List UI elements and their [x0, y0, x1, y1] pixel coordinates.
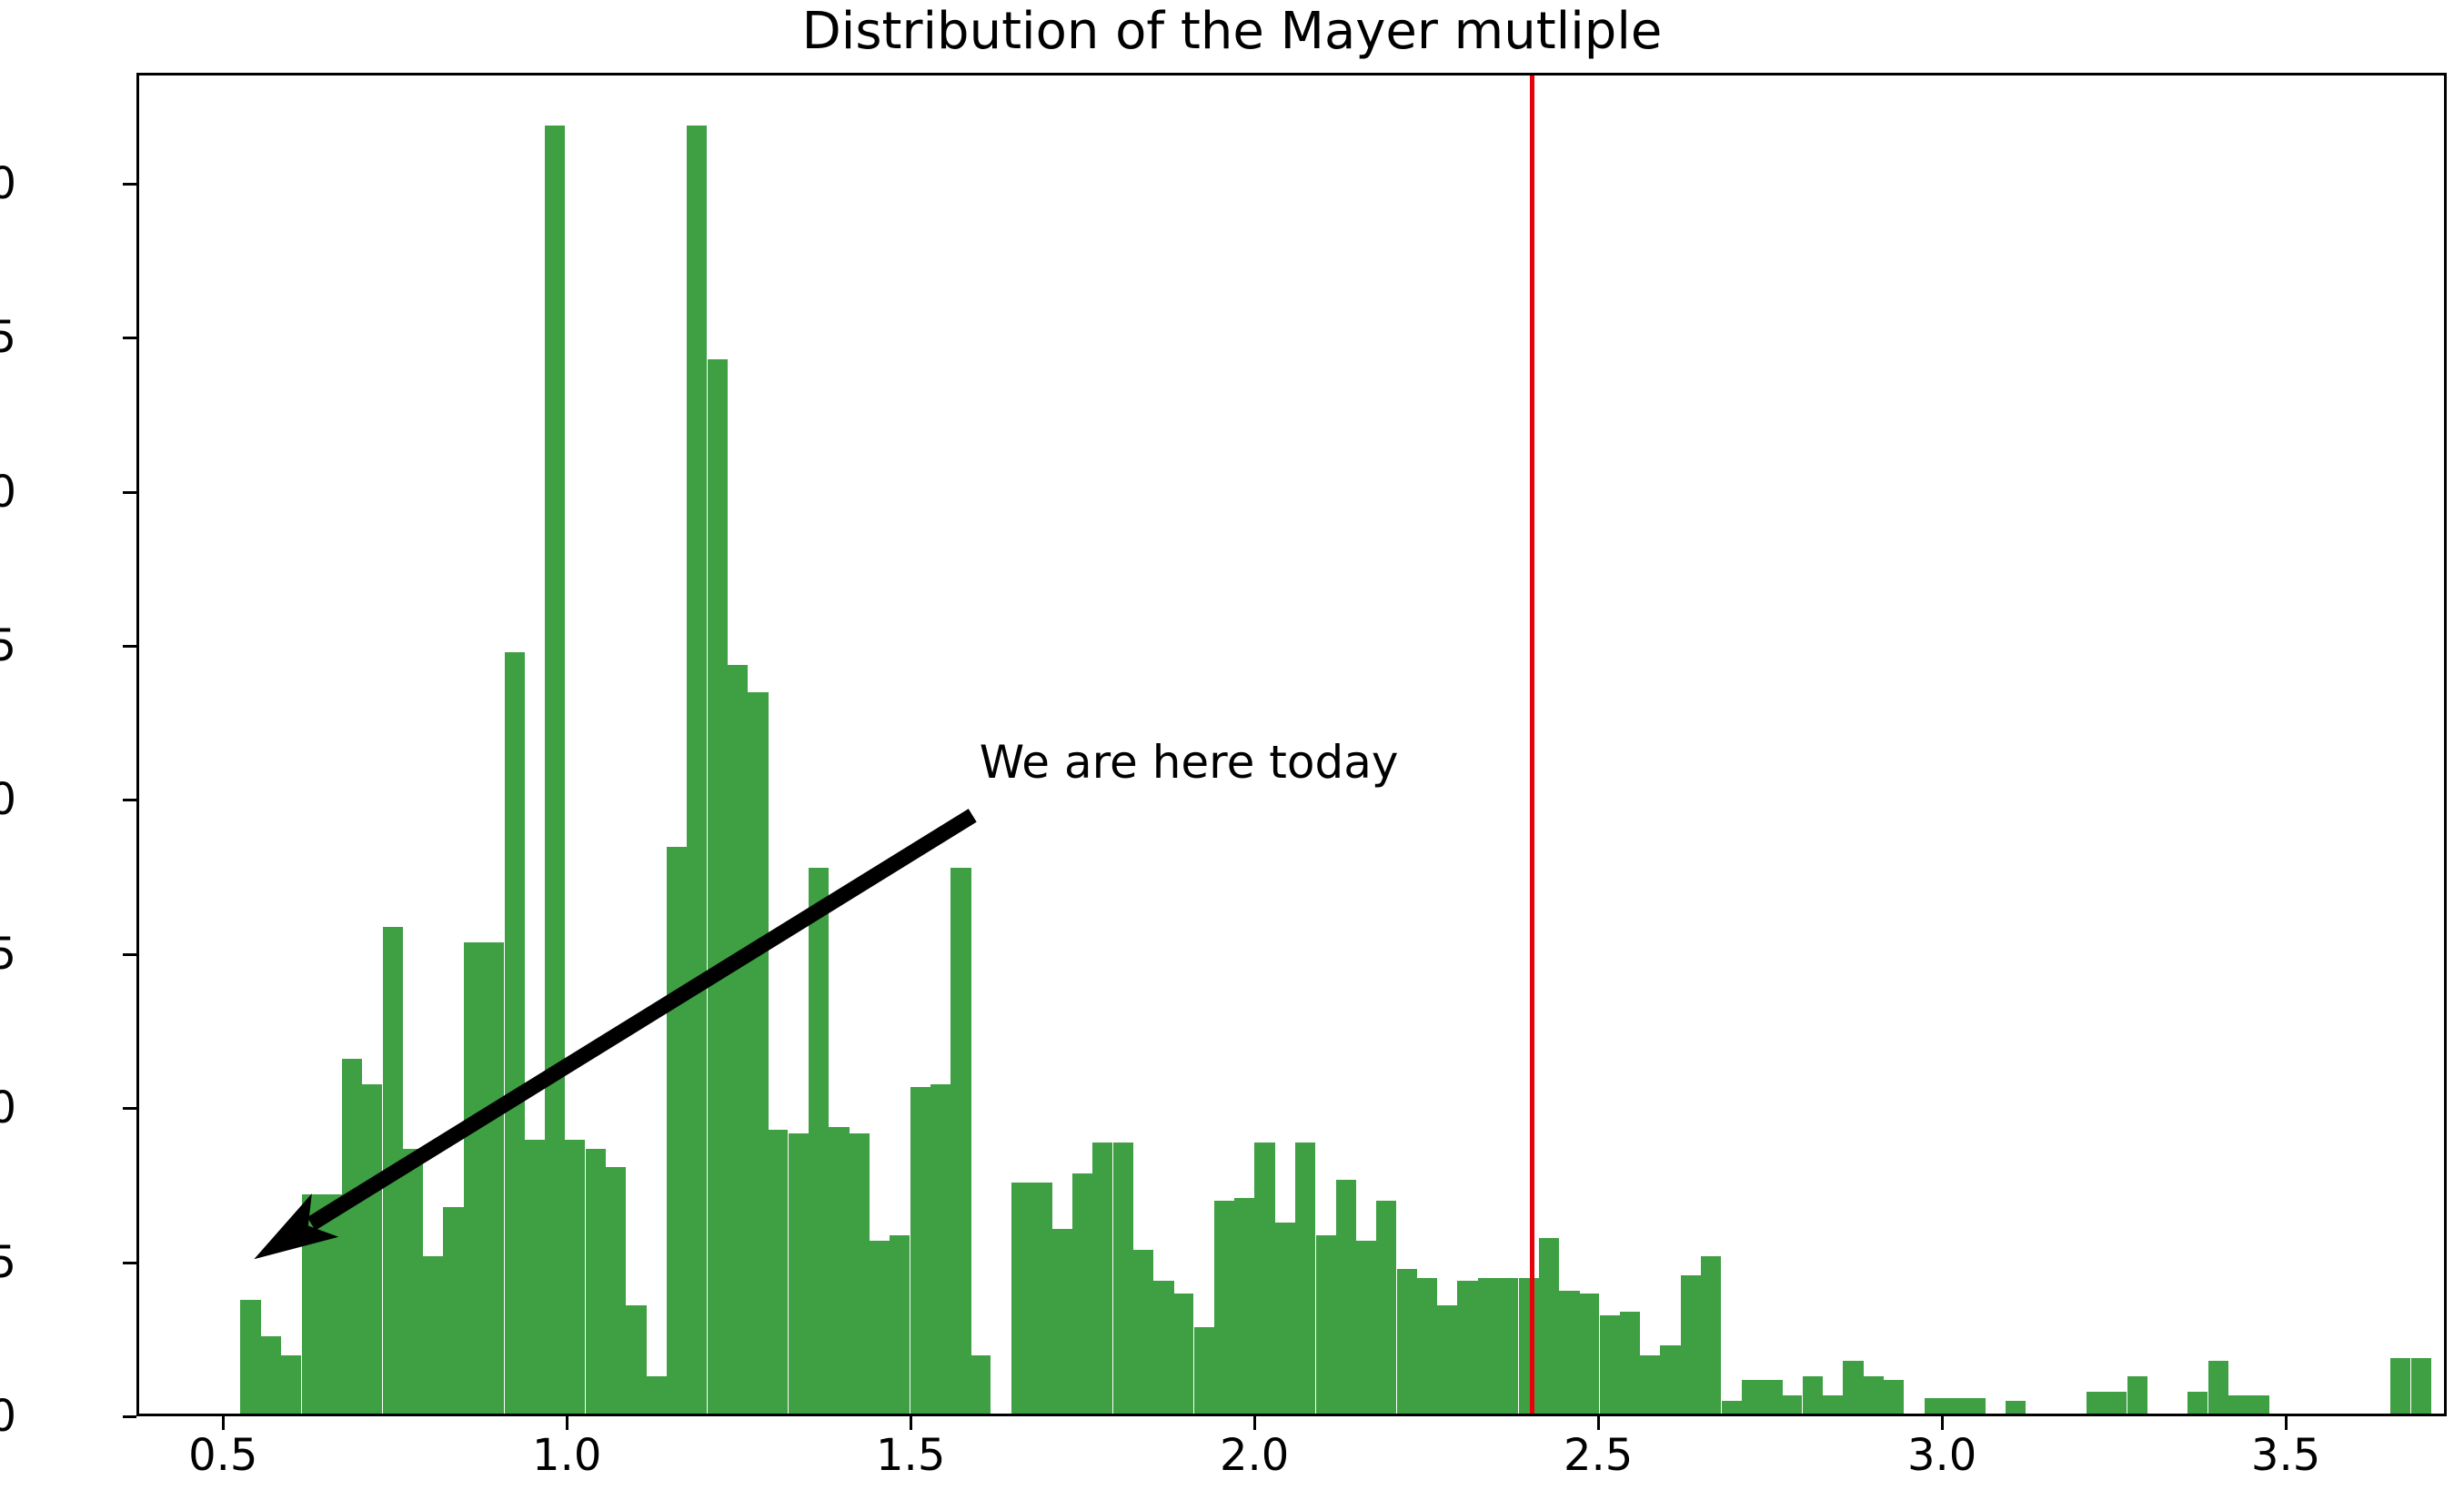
histogram-bar [545, 126, 565, 1414]
x-tick-mark [1941, 1416, 1944, 1430]
histogram-bar [1336, 1180, 1356, 1414]
histogram-bar [1742, 1380, 1762, 1414]
histogram-bar [971, 1355, 991, 1414]
histogram-bar [1681, 1275, 1701, 1414]
histogram-bar [646, 1376, 666, 1414]
histogram-bar [1011, 1183, 1031, 1414]
histogram-bar [1701, 1256, 1721, 1414]
y-tick-mark [123, 183, 136, 186]
x-tick-label: 2.0 [1220, 1430, 1289, 1481]
y-tick-mark [123, 491, 136, 494]
x-tick-mark [910, 1416, 912, 1430]
histogram-bar [809, 868, 829, 1414]
histogram-bar [2087, 1392, 2107, 1414]
x-tick-mark [222, 1416, 225, 1430]
histogram-bar [403, 1149, 423, 1414]
histogram-bar [687, 126, 707, 1414]
histogram-bar [2006, 1401, 2026, 1414]
histogram-bar [525, 1140, 545, 1414]
histogram-bar [1498, 1278, 1518, 1414]
histogram-bar [1539, 1238, 1559, 1414]
threshold-vline [1530, 76, 1534, 1414]
y-tick-label: 1.75 [0, 312, 31, 363]
histogram-bar [2187, 1392, 2208, 1414]
histogram-bar [1133, 1250, 1153, 1414]
histogram-bar [322, 1194, 342, 1414]
histogram-bar [768, 1130, 788, 1414]
histogram-bar [829, 1127, 849, 1414]
histogram-bar [1397, 1269, 1417, 1414]
histogram-bar [261, 1336, 281, 1414]
y-tick-mark [123, 1415, 136, 1418]
histogram-bar [302, 1194, 322, 1414]
histogram-bar [930, 1084, 950, 1414]
y-tick-mark [123, 337, 136, 339]
histogram-bar [789, 1133, 809, 1414]
histogram-bar [1620, 1312, 1640, 1414]
histogram-bar [505, 652, 525, 1414]
histogram-bar [2107, 1392, 2127, 1414]
histogram-bar [484, 942, 504, 1414]
histogram-bar [565, 1140, 585, 1414]
histogram-bar [1031, 1183, 1051, 1414]
histogram-bar [1194, 1327, 1214, 1414]
histogram-bar [1478, 1278, 1498, 1414]
histogram-bar [586, 1149, 606, 1414]
histogram-bar [1173, 1294, 1193, 1414]
histogram-bar [748, 692, 768, 1414]
histogram-bar [667, 847, 687, 1414]
histogram-bar [708, 359, 728, 1414]
histogram-bar [1863, 1376, 1883, 1414]
histogram-bar [1559, 1291, 1579, 1414]
x-tick-label: 0.5 [188, 1430, 257, 1481]
histogram-bar [849, 1133, 869, 1414]
y-tick-label: 1.00 [0, 774, 31, 825]
histogram-bar [1519, 1278, 1539, 1414]
histogram-bar [626, 1305, 646, 1414]
histogram-bar [870, 1241, 890, 1414]
histogram-bar [1823, 1395, 1843, 1414]
histogram-bar [2390, 1358, 2410, 1414]
histogram-bar [1660, 1345, 1680, 1414]
histogram-bar [1376, 1201, 1396, 1414]
histogram-bar [1884, 1380, 1904, 1414]
page-title: Distribution of the Mayer mutliple [0, 2, 2464, 61]
chart-figure: Distribution of the Mayer mutliple 0.000… [0, 0, 2464, 1500]
histogram-bar [281, 1355, 301, 1414]
y-tick-mark [123, 1107, 136, 1110]
histogram-bar [1843, 1361, 1863, 1414]
y-tick-label: 2.00 [0, 158, 31, 209]
histogram-bar [2411, 1358, 2431, 1414]
histogram-bar [1417, 1278, 1437, 1414]
histogram-bar [1295, 1143, 1315, 1414]
histogram-bar [1275, 1223, 1295, 1414]
x-tick-label: 2.5 [1564, 1430, 1633, 1481]
histogram-bar [1437, 1305, 1457, 1414]
x-tick-mark [1597, 1416, 1600, 1430]
histogram-bar [1356, 1241, 1376, 1414]
histogram-bar [1803, 1376, 1823, 1414]
histogram-bar [1640, 1355, 1660, 1414]
y-tick-mark [123, 799, 136, 801]
x-tick-label: 1.5 [876, 1430, 945, 1481]
histogram-bar [240, 1300, 260, 1414]
histogram-bar [1072, 1173, 1092, 1414]
histogram-bar [1234, 1198, 1254, 1414]
y-tick-label: 1.25 [0, 620, 31, 671]
y-tick-mark [123, 1262, 136, 1264]
histogram-bar [1457, 1281, 1477, 1414]
histogram-bar [1051, 1229, 1071, 1414]
histogram-bar [1600, 1315, 1620, 1414]
histogram-bar [1945, 1398, 1965, 1414]
histogram-bar [1214, 1201, 1234, 1414]
y-tick-label: 0.50 [0, 1082, 31, 1133]
histogram-bar [464, 942, 484, 1414]
x-tick-mark [566, 1416, 568, 1430]
histogram-bar [423, 1256, 443, 1414]
histogram-bar [342, 1059, 362, 1414]
x-tick-mark [1253, 1416, 1256, 1430]
histogram-bar [1113, 1143, 1133, 1414]
histogram-bar [910, 1087, 930, 1414]
histogram-bar [2248, 1395, 2268, 1414]
y-tick-label: 0.00 [0, 1391, 31, 1442]
histogram-bar [606, 1167, 626, 1414]
histogram-bar [728, 665, 748, 1414]
histogram-bar [1254, 1143, 1274, 1414]
y-tick-mark [123, 953, 136, 956]
x-tick-label: 3.5 [2251, 1430, 2320, 1481]
x-tick-label: 3.0 [1907, 1430, 1976, 1481]
histogram-bar [1316, 1235, 1336, 1414]
annotation-label: We are here today [980, 736, 1399, 789]
histogram-bar [950, 868, 971, 1414]
histogram-bar [1762, 1380, 1782, 1414]
y-tick-label: 0.25 [0, 1237, 31, 1288]
histogram-bar [2127, 1376, 2147, 1414]
histogram-bar [1579, 1294, 1599, 1414]
histogram-bar [2228, 1395, 2248, 1414]
x-tick-label: 1.0 [532, 1430, 601, 1481]
y-tick-mark [123, 645, 136, 648]
histogram-bar [2208, 1361, 2228, 1414]
histogram-bar [362, 1084, 382, 1414]
y-tick-label: 1.50 [0, 467, 31, 518]
y-tick-label: 0.75 [0, 929, 31, 980]
histogram-bar [890, 1235, 910, 1414]
histogram-bar [1092, 1143, 1112, 1414]
histogram-bar [1722, 1401, 1742, 1414]
histogram-bar [1782, 1395, 1802, 1414]
histogram-bar [1153, 1281, 1173, 1414]
histogram-bar [443, 1207, 463, 1414]
histogram-bar [383, 927, 403, 1414]
histogram-bar [1965, 1398, 1985, 1414]
x-tick-mark [2285, 1416, 2288, 1430]
histogram-bar [1925, 1398, 1945, 1414]
